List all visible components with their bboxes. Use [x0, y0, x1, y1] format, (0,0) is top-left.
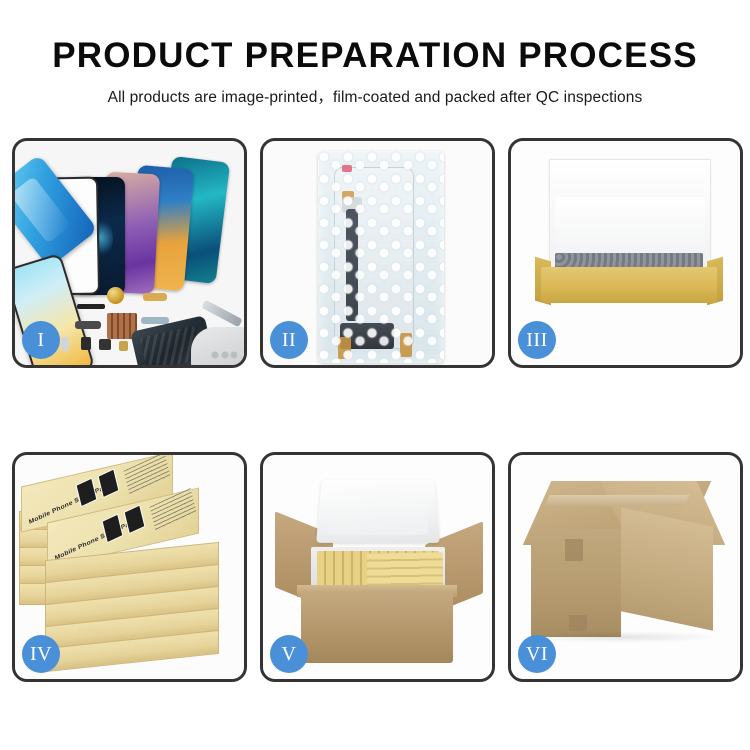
step-5-badge: V [270, 635, 308, 673]
step-4-badge: IV [22, 635, 60, 673]
black-strip-part [77, 304, 105, 309]
infographic-page: PRODUCT PREPARATION PROCESS All products… [0, 0, 750, 750]
small-component-2 [99, 339, 111, 350]
gold-flex-part [143, 293, 167, 301]
technician-hand [191, 327, 244, 365]
kraft-tray-front [541, 267, 717, 303]
small-component-1 [81, 337, 91, 350]
dark-flex-part [75, 321, 101, 329]
small-component-4 [61, 337, 69, 351]
process-step-3: III [508, 138, 743, 368]
bubble-wrap-bag [318, 151, 444, 363]
carton-seam-tab-upper [565, 539, 583, 561]
box-art-screen-2b [124, 504, 146, 534]
process-step-4: Mobile Phone Spare Parts Mobile Phone Sp… [12, 452, 247, 682]
box-art-screen-1b [98, 468, 120, 498]
process-step-6: VI [508, 452, 743, 682]
step-3-badge: III [518, 321, 556, 359]
page-subtitle: All products are image-printed，film-coat… [0, 76, 750, 107]
step-6-badge: VI [518, 635, 556, 673]
process-step-grid: I II [12, 138, 742, 682]
small-component-3 [119, 341, 128, 351]
page-title: PRODUCT PREPARATION PROCESS [0, 0, 750, 76]
carton-shadow [525, 631, 721, 643]
foam-lid [316, 480, 440, 543]
header: PRODUCT PREPARATION PROCESS All products… [0, 0, 750, 107]
screws-group [211, 351, 237, 359]
grey-flex-part [141, 317, 169, 324]
process-step-1: I [12, 138, 247, 368]
step-2-badge: II [270, 321, 308, 359]
copper-coil-part [107, 287, 124, 304]
step-1-badge: I [22, 321, 60, 359]
packing-tape-strip [545, 495, 690, 506]
carton-seam-tab-lower [569, 615, 587, 631]
carton-front-panel [301, 591, 453, 663]
box-spec-lines-1 [124, 455, 171, 495]
process-step-2: II [260, 138, 495, 368]
bubble-texture [318, 151, 444, 363]
process-step-5: V [260, 452, 495, 682]
carton-right-face [621, 507, 713, 631]
